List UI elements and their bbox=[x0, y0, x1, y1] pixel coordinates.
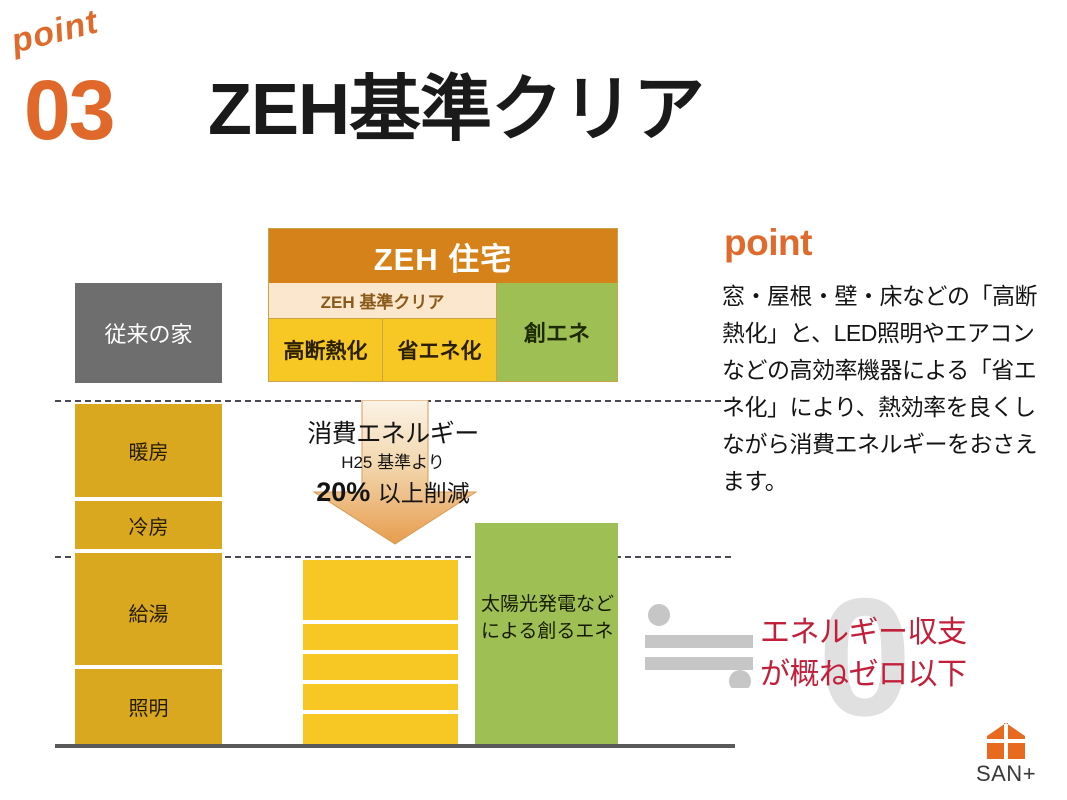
company-logo: SAN+ bbox=[963, 723, 1049, 783]
reduction-line-3: 20% 以上削減 bbox=[268, 475, 518, 510]
chart-baseline bbox=[55, 744, 735, 748]
energy-balance-text: エネルギー収支 が概ねゼロ以下 bbox=[760, 612, 1040, 696]
zeh-consumption-segment-1 bbox=[303, 560, 458, 620]
zeh-cell-insulation: 高断熱化 bbox=[269, 319, 383, 381]
solar-label-line-2: による創るエネ bbox=[481, 618, 618, 645]
zeh-consumption-segment-4 bbox=[303, 684, 458, 710]
reduction-line-2: H25 基準より bbox=[268, 450, 518, 475]
right-panel-body-text: 窓・屋根・壁・床などの「高断熱化」と、LED照明やエアコンなどの高効率機器による… bbox=[722, 278, 1052, 500]
reduction-suffix: 以上削減 bbox=[378, 480, 470, 506]
logo-text: SAN+ bbox=[963, 761, 1049, 787]
zeh-cell-energy-generation: 創エネ bbox=[497, 283, 617, 381]
right-panel-point-label: point bbox=[724, 222, 812, 264]
reduction-percent: 20% bbox=[316, 477, 370, 507]
zeh-consumption-segment-5 bbox=[303, 714, 458, 744]
zeh-consumption-segment-2 bbox=[303, 624, 458, 650]
zeh-house-table: ZEH 住宅 ZEH 基準クリア 高断熱化 省エネ化 創エネ bbox=[268, 228, 618, 382]
zeh-cell-energy-saving: 省エネ化 bbox=[383, 319, 497, 381]
reduction-arrow-text: 消費エネルギー H25 基準より 20% 以上削減 bbox=[268, 418, 518, 510]
house-logo-icon bbox=[987, 723, 1025, 759]
zeh-consumption-segment-3 bbox=[303, 654, 458, 680]
solar-label-line-1: 太陽光発電など bbox=[481, 591, 618, 618]
solar-generation-label: 太陽光発電など による創るエネ bbox=[475, 591, 618, 645]
balance-line-2: が概ねゼロ以下 bbox=[760, 654, 1040, 696]
approximately-equal-icon bbox=[645, 604, 761, 688]
conventional-house-header: 従来の家 bbox=[75, 283, 222, 383]
conventional-segment-hotwater: 給湯 bbox=[75, 560, 222, 665]
conventional-segment-lighting: 照明 bbox=[75, 669, 222, 744]
reduction-line-1: 消費エネルギー bbox=[268, 418, 518, 450]
slide-root: point 03 ZEH基準クリア ZEH 住宅 ZEH 基準クリア 高断熱化 … bbox=[0, 0, 1067, 800]
balance-line-1: エネルギー収支 bbox=[760, 612, 1040, 654]
zeh-standard-band: ZEH 基準クリア bbox=[269, 283, 497, 319]
zeh-table-title: ZEH 住宅 bbox=[269, 229, 617, 283]
header-point-number: 03 bbox=[24, 68, 113, 152]
page-title: ZEH基準クリア bbox=[208, 70, 704, 150]
solar-generation-bar: 太陽光発電など による創るエネ bbox=[475, 523, 618, 744]
conventional-segment-cooling: 冷房 bbox=[75, 501, 222, 549]
conventional-segment-heating: 暖房 bbox=[75, 404, 222, 497]
